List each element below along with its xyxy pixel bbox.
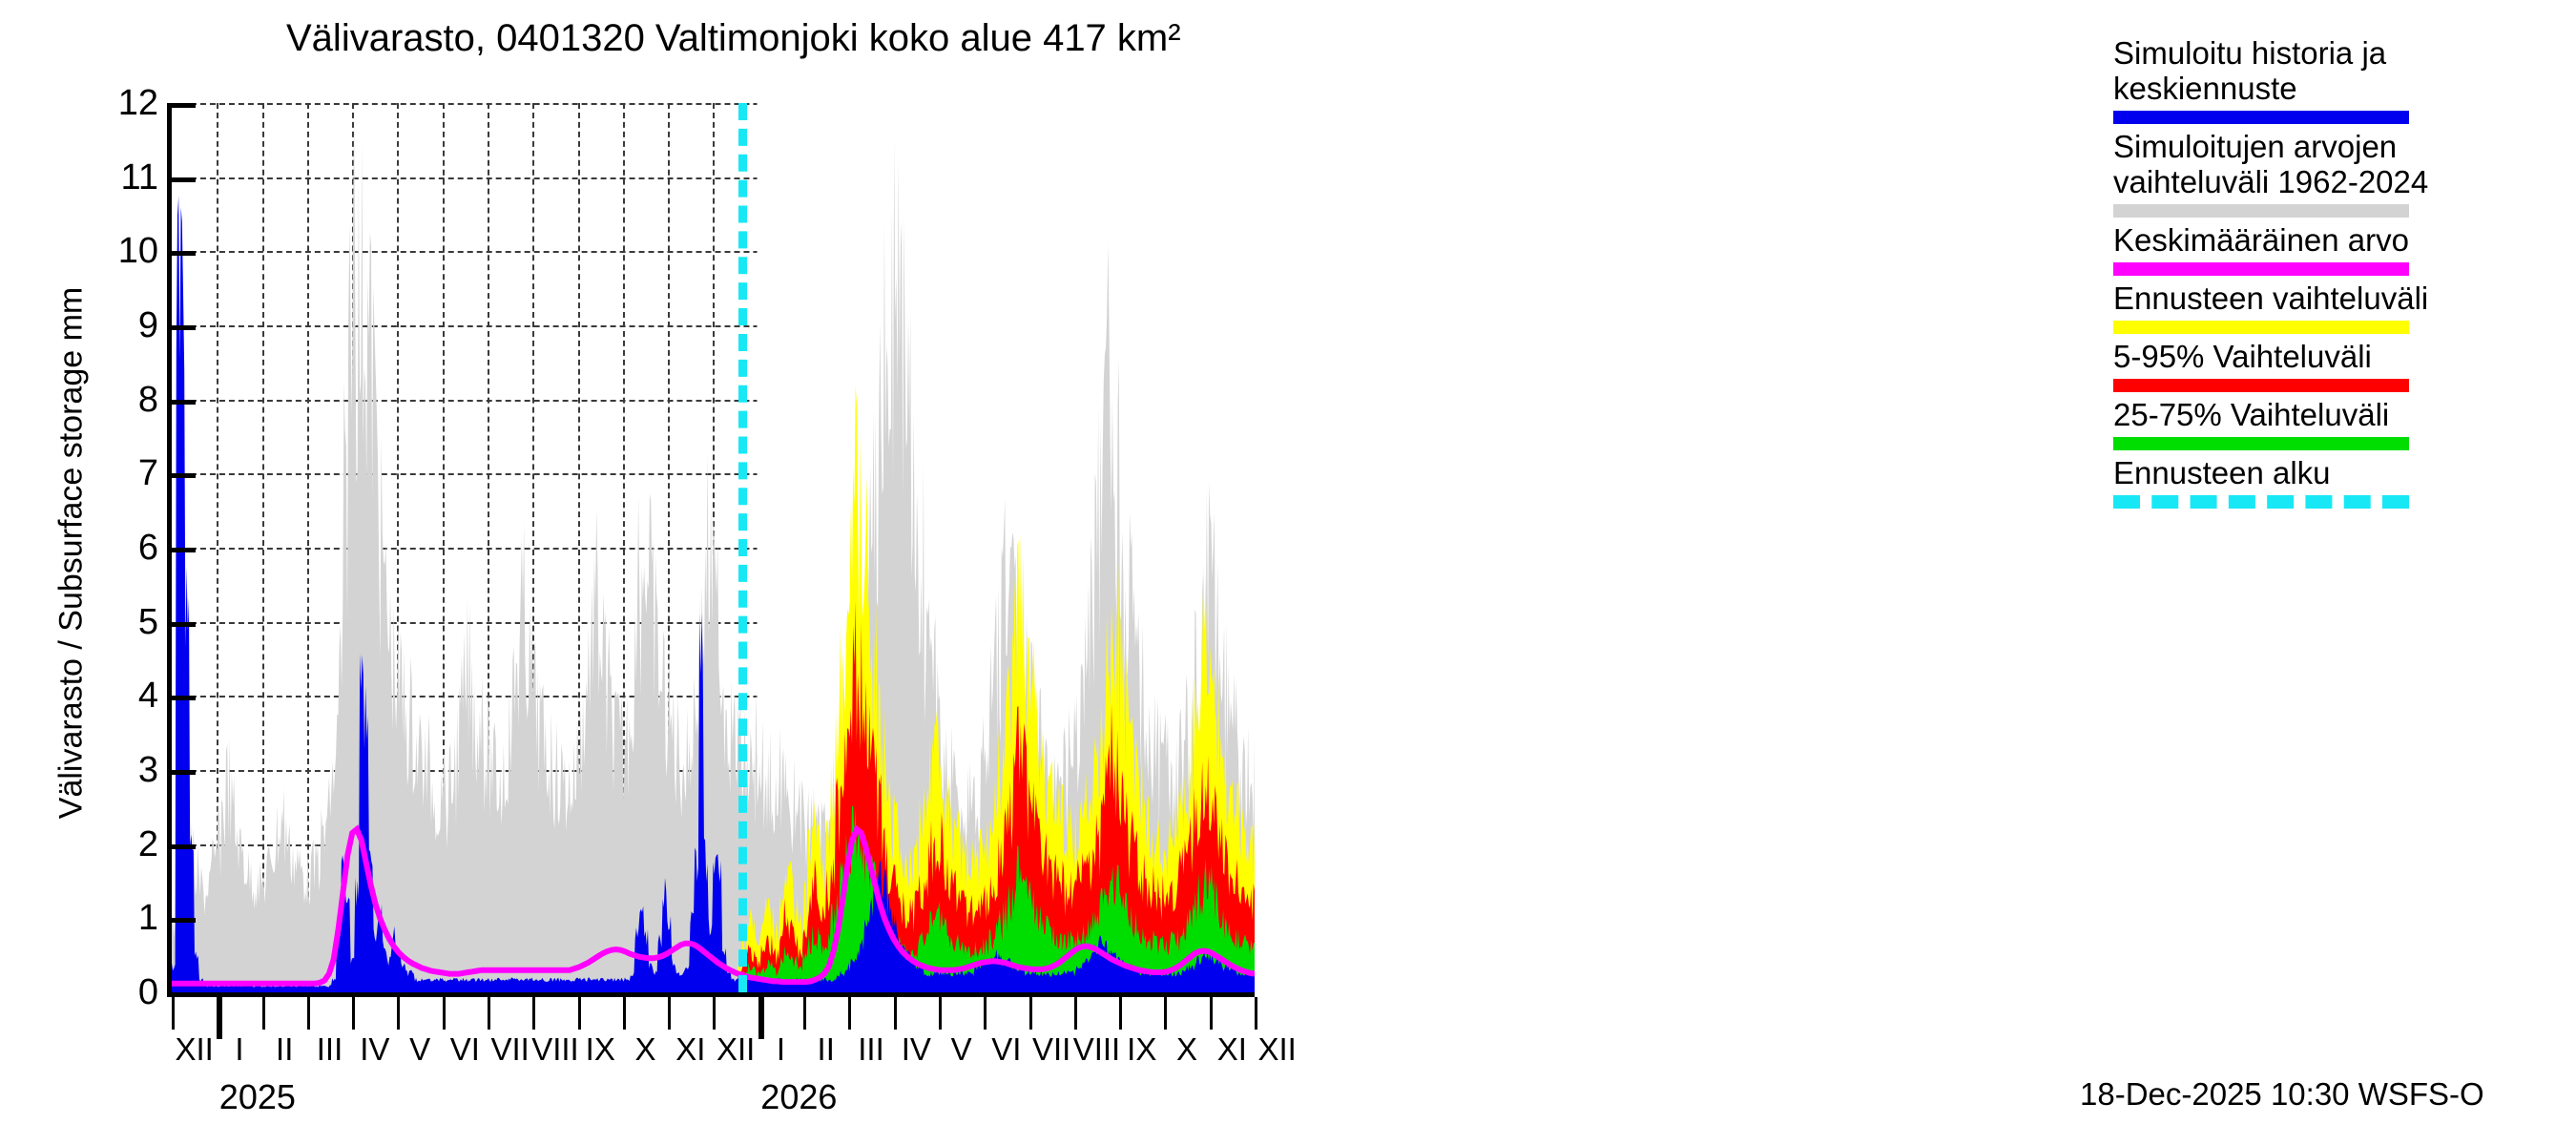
x-axis-tick bbox=[984, 997, 987, 1030]
data-series-layer bbox=[172, 103, 1255, 992]
y-axis-tick bbox=[167, 548, 196, 552]
y-tick-label: 3 bbox=[138, 752, 158, 788]
x-tick-label-year: 2025 bbox=[219, 1077, 296, 1117]
x-tick-label-month: XI bbox=[1217, 1031, 1247, 1068]
y-axis-label: Välivarasto / Subsurface storage mm bbox=[53, 258, 91, 849]
x-axis-tick bbox=[939, 997, 942, 1030]
y-axis-tick bbox=[167, 918, 196, 923]
x-tick-label-month: XI bbox=[675, 1031, 705, 1068]
x-axis-tick bbox=[803, 997, 806, 1030]
x-axis-tick bbox=[488, 997, 490, 1030]
legend-entry[interactable]: Keskimääräinen arvo bbox=[2113, 223, 2571, 276]
legend-label: 25-75% Vaihteluväli bbox=[2113, 398, 2571, 433]
legend-entry[interactable]: Simuloitujen arvojen vaihteluväli 1962-2… bbox=[2113, 130, 2571, 218]
legend-entry[interactable]: 5-95% Vaihteluväli bbox=[2113, 340, 2571, 392]
footer-timestamp: 18-Dec-2025 10:30 WSFS-O bbox=[2080, 1076, 2484, 1113]
y-tick-label: 12 bbox=[118, 85, 158, 121]
x-tick-label-month: X bbox=[635, 1031, 656, 1068]
legend-entry[interactable]: Simuloitu historia ja keskiennuste bbox=[2113, 36, 2571, 124]
x-axis: XIIIIIIIIIVVVIVIIVIIIIXXXIXIIIIIIIIIVVVI… bbox=[167, 997, 2075, 1140]
legend-entry[interactable]: Ennusteen vaihteluväli bbox=[2113, 281, 2571, 334]
y-axis-tick bbox=[167, 622, 196, 627]
x-tick-label-year: 2026 bbox=[760, 1077, 837, 1117]
x-axis-tick bbox=[443, 997, 446, 1030]
legend-label: Ennusteen alku bbox=[2113, 456, 2571, 491]
x-axis-tick bbox=[668, 997, 671, 1030]
y-tick-label: 9 bbox=[138, 307, 158, 343]
x-tick-label-month: VII bbox=[1032, 1031, 1070, 1068]
x-axis-tick bbox=[262, 997, 265, 1030]
x-axis-tick bbox=[1255, 997, 1257, 1030]
x-axis-tick bbox=[1119, 997, 1122, 1030]
x-axis-tick bbox=[532, 997, 535, 1030]
x-tick-label-month: VIII bbox=[531, 1031, 579, 1068]
legend-label: Keskimääräinen arvo bbox=[2113, 223, 2571, 259]
legend-swatch bbox=[2113, 321, 2409, 334]
legend-label: 5-95% Vaihteluväli bbox=[2113, 340, 2571, 375]
x-tick-label-month: XII bbox=[717, 1031, 755, 1068]
x-tick-label-month: III bbox=[858, 1031, 884, 1068]
x-axis-tick bbox=[1210, 997, 1213, 1030]
x-tick-label-month: VIII bbox=[1073, 1031, 1121, 1068]
x-tick-label-month: XII bbox=[1257, 1031, 1296, 1068]
y-tick-label: 0 bbox=[138, 974, 158, 1010]
y-axis-tick bbox=[167, 251, 196, 256]
x-axis-tick bbox=[713, 997, 716, 1030]
y-tick-label: 7 bbox=[138, 455, 158, 491]
x-axis-tick bbox=[172, 997, 175, 1030]
x-tick-label-month: V bbox=[951, 1031, 972, 1068]
x-tick-label-month: I bbox=[777, 1031, 785, 1068]
legend-swatch bbox=[2113, 111, 2409, 124]
x-axis-tick bbox=[352, 997, 355, 1030]
x-tick-label-month: II bbox=[818, 1031, 835, 1068]
legend-swatch bbox=[2113, 437, 2409, 450]
x-axis-tick bbox=[307, 997, 310, 1030]
legend-label: Ennusteen vaihteluväli bbox=[2113, 281, 2571, 317]
x-axis-tick bbox=[1164, 997, 1167, 1030]
x-tick-label-month: I bbox=[235, 1031, 243, 1068]
y-tick-label: 2 bbox=[138, 826, 158, 863]
legend: Simuloitu historia ja keskiennusteSimulo… bbox=[2113, 36, 2571, 514]
y-axis-tick bbox=[167, 325, 196, 330]
legend-label: Simuloitujen arvojen vaihteluväli 1962-2… bbox=[2113, 130, 2571, 200]
x-axis-tick bbox=[623, 997, 626, 1030]
x-tick-label-month: X bbox=[1176, 1031, 1197, 1068]
x-axis-tick bbox=[1029, 997, 1032, 1030]
y-tick-label: 8 bbox=[138, 382, 158, 418]
x-axis-tick bbox=[848, 997, 851, 1030]
x-tick-label-month: III bbox=[317, 1031, 343, 1068]
legend-entry[interactable]: Ennusteen alku bbox=[2113, 456, 2571, 509]
legend-swatch bbox=[2113, 495, 2409, 509]
x-tick-label-month: IX bbox=[586, 1031, 615, 1068]
x-tick-label-month: II bbox=[276, 1031, 293, 1068]
x-tick-label-month: IX bbox=[1127, 1031, 1156, 1068]
legend-label: Simuloitu historia ja keskiennuste bbox=[2113, 36, 2571, 107]
y-axis-tick-labels: 0123456789101112 bbox=[92, 57, 158, 997]
legend-swatch bbox=[2113, 204, 2409, 218]
y-axis-tick bbox=[167, 844, 196, 849]
x-axis-tick bbox=[397, 997, 400, 1030]
x-tick-label-month: VII bbox=[490, 1031, 529, 1068]
forecast-start-line bbox=[738, 103, 747, 992]
plot-area bbox=[172, 103, 1255, 992]
x-axis-year-tick bbox=[758, 997, 764, 1039]
y-axis-tick bbox=[167, 400, 196, 405]
y-tick-label: 10 bbox=[118, 233, 158, 269]
x-tick-label-month: IV bbox=[902, 1031, 931, 1068]
legend-swatch bbox=[2113, 262, 2409, 276]
y-axis-tick bbox=[167, 177, 196, 182]
x-tick-label-month: VI bbox=[450, 1031, 480, 1068]
y-axis-tick bbox=[167, 992, 196, 997]
x-axis-tick bbox=[1074, 997, 1077, 1030]
y-axis-tick bbox=[167, 473, 196, 478]
y-tick-label: 1 bbox=[138, 900, 158, 936]
y-tick-label: 5 bbox=[138, 604, 158, 640]
y-tick-label: 4 bbox=[138, 677, 158, 714]
x-tick-label-month: IV bbox=[360, 1031, 389, 1068]
x-tick-label-month: XII bbox=[175, 1031, 213, 1068]
y-tick-label: 6 bbox=[138, 530, 158, 566]
x-axis-tick bbox=[894, 997, 897, 1030]
legend-entry[interactable]: 25-75% Vaihteluväli bbox=[2113, 398, 2571, 450]
legend-swatch bbox=[2113, 379, 2409, 392]
x-axis-year-tick bbox=[217, 997, 222, 1039]
y-axis-tick bbox=[167, 103, 196, 108]
x-axis-tick bbox=[578, 997, 581, 1030]
y-axis-tick bbox=[167, 696, 196, 700]
page-title: Välivarasto, 0401320 Valtimonjoki koko a… bbox=[286, 17, 1622, 60]
y-tick-label: 11 bbox=[121, 159, 158, 196]
x-tick-label-month: V bbox=[409, 1031, 430, 1068]
x-tick-label-month: VI bbox=[991, 1031, 1021, 1068]
y-axis-tick bbox=[167, 770, 196, 775]
